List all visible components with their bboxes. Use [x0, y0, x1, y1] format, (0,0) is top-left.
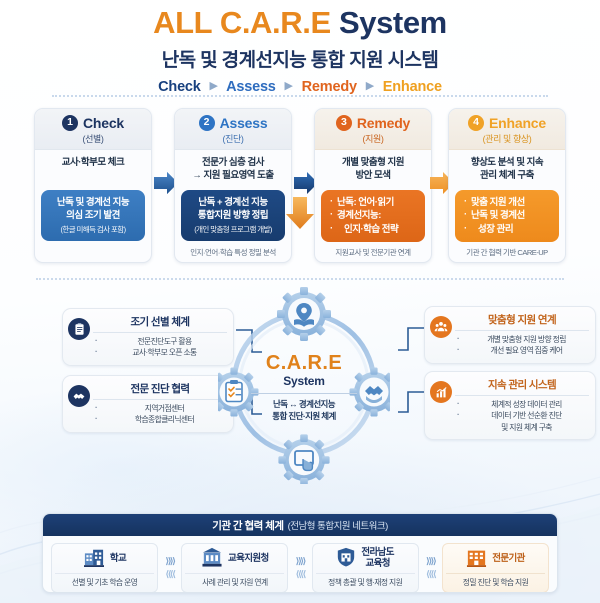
page-title: ALL C.A.R.E System: [0, 6, 600, 41]
step-description-line-2: 관리 체계 구축: [471, 170, 543, 183]
care-system-word: System: [218, 374, 390, 388]
institution-connector: ⟫⟫ ⟪⟪: [158, 543, 181, 593]
step-card-header: 1 Check (선별): [35, 109, 151, 150]
page-subtitle: 난독 및 경계선지능 통합 지원 시스템: [0, 45, 600, 72]
side-box-item: 체계적 성장 데이터 관리: [455, 399, 589, 410]
step-description: 향상도 분석 및 지속 관리 체계 구축: [471, 157, 543, 185]
step-number-badge: 2: [199, 115, 215, 131]
institution-name: 교육지원청: [228, 554, 269, 565]
step-footnote: 인지·언어·학습 특성 정밀 분석: [175, 247, 291, 258]
step-footnote: 기관 간 협력 기반 CARE-UP: [449, 247, 565, 258]
header-divider: [52, 95, 548, 97]
side-box-item: 지역거점센터: [93, 403, 227, 414]
connector-back-icon: ⟪⟪: [426, 569, 435, 580]
government-building-icon: [201, 547, 223, 572]
step-card-header: 4 Enhance (관리 및 향상): [449, 109, 565, 150]
step-sequence: Check ▶ Assess ▶ Remedy ▶ Enhance: [0, 79, 600, 95]
institution-connector: ⟫⟫ ⟪⟪: [288, 543, 311, 593]
connector-forward-icon: ⟫⟫: [296, 556, 305, 567]
step-description-line-1: 전문가 심층 검사: [192, 157, 273, 170]
institution-name: 전문기관: [492, 554, 525, 565]
institution-role: 정책 총괄 및 행·재정 지원: [316, 573, 415, 588]
pill-bullet-1: 난독: 언어·읽기: [330, 196, 422, 209]
institution-provincial-office[interactable]: 전라남도 교육청 정책 총괄 및 행·재정 지원: [312, 543, 419, 593]
step-description: 교사·학부모 체크: [62, 157, 124, 185]
step-label-enhance: Enhance: [383, 79, 442, 95]
pill-bullet-2-cont: 성장 관리: [464, 223, 556, 236]
infographic-page: ALL C.A.R.E System 난독 및 경계선지능 통합 지원 시스템 …: [0, 0, 600, 603]
institution-network-subtitle: (전남형 통합지원 네트워크): [288, 518, 388, 532]
step-number-badge: 3: [336, 115, 352, 131]
institution-expert-agency[interactable]: 전문기관 정밀 진단 및 학습 지원: [442, 543, 549, 593]
pill-bullet-2: 경계선지능:: [330, 209, 422, 222]
checklist-icon: [68, 318, 90, 340]
gear-node-bottom: [278, 434, 329, 484]
step-title-ko: (지원): [363, 132, 384, 145]
step-card-enhance[interactable]: 4 Enhance (관리 및 향상) 향상도 분석 및 지속 관리 체계 구축…: [448, 108, 566, 263]
office-shield-icon: [336, 547, 356, 572]
pill-bullet-2: 난독 및 경계선: [464, 209, 556, 222]
institution-education-support-office[interactable]: 교육지원청 사례 관리 및 자원 연계: [181, 543, 288, 593]
side-box-item: 데이터 기반 선순환 진단: [455, 410, 589, 421]
side-box-item: 교사·학부모 오픈 소통: [93, 347, 227, 358]
connector-forward-icon: ⟫⟫: [426, 556, 435, 567]
step-footnote: 지원교사 및 전문기관 연계: [315, 247, 431, 258]
institution-name: 학교: [110, 554, 126, 565]
care-text-divider: [251, 393, 357, 394]
side-box-list: 체계적 성장 데이터 관리 데이터 기반 선순환 진단 및 지원 체계 구축: [455, 399, 589, 433]
pill-bullet-1: 맞춤 지원 개선: [464, 196, 556, 209]
institution-name: 전라남도 교육청: [361, 548, 394, 570]
pill-bullet-2-cont: 인지·학습 전략: [330, 223, 422, 236]
pill-line-1: 난독 + 경계선 지능: [184, 196, 282, 209]
side-box-title: 전문 진단 협력: [93, 381, 227, 400]
care-center-text: C.A.R.E System 난독 ↔ 경계선지능 통합 진단·지원 체계: [218, 352, 390, 423]
side-box-expert-diagnosis[interactable]: 전문 진단 협력 지역거점센터 학습종합클리닉센터: [62, 375, 234, 433]
connector-back-icon: ⟪⟪: [165, 569, 174, 580]
institution-connector: ⟫⟫ ⟪⟪: [419, 543, 442, 593]
process-steps-row: 1 Check (선별) 교사·학부모 체크 난독 및 경계선 지능 의심 조기…: [34, 108, 566, 266]
care-system-section: 조기 선별 체계 전문진단도구 활용 교사·학부모 오픈 소통 전문 진단 협력…: [0, 278, 600, 493]
step-title-en: Enhance: [489, 115, 546, 131]
side-box-list: 지역거점센터 학습종합클리닉센터: [93, 403, 227, 426]
side-box-item: 전문진단도구 활용: [93, 336, 227, 347]
step-title-ko: (선별): [83, 132, 104, 145]
side-box-list: 개별 맞춤형 지원 방향 정립 개선 필요 영역 집중 케어: [455, 334, 589, 357]
side-box-continuous-management[interactable]: 지속 관리 시스템 체계적 성장 데이터 관리 데이터 기반 선순환 진단 및 …: [424, 371, 596, 440]
step-highlight-pill: 난독 + 경계선 지능 통합지원 방향 정립 (개인 맞춤형 프로그램 개발): [181, 190, 285, 241]
sequence-arrow-icon: ▶: [361, 80, 379, 92]
step-card-header: 3 Remedy (지원): [315, 109, 431, 150]
step-label-assess: Assess: [226, 79, 276, 95]
step-description-line-1: 개별 맞춤형 지원: [342, 157, 404, 170]
step-description: 전문가 심층 검사 → 지원 필요영역 도출: [192, 157, 273, 185]
sequence-arrow-icon: ▶: [205, 80, 223, 92]
step-card-body: 교사·학부모 체크 난독 및 경계선 지능 의심 조기 발견 (한글 미해득 검…: [35, 150, 151, 263]
step-highlight-pill: 난독 및 경계선 지능 의심 조기 발견 (한글 미해득 검사 포함): [41, 190, 145, 241]
step-title-en: Remedy: [357, 115, 410, 131]
pill-note: (한글 미해득 검사 포함): [44, 224, 142, 235]
institution-list: 학교 선별 및 기초 학습 운영 ⟫⟫ ⟪⟪: [43, 536, 557, 593]
institution-name-line-2: 교육청: [361, 559, 394, 570]
pill-line-1: 난독 및 경계선 지능: [44, 196, 142, 209]
institution-role: 정밀 진단 및 학습 지원: [446, 573, 545, 588]
side-box-title: 조기 선별 체계: [93, 314, 227, 333]
step-card-check[interactable]: 1 Check (선별) 교사·학부모 체크 난독 및 경계선 지능 의심 조기…: [34, 108, 152, 263]
institution-network-panel: 기관 간 협력 체계 (전남형 통합지원 네트워크): [42, 513, 558, 593]
step-card-assess[interactable]: 2 Assess (진단) 전문가 심층 검사 → 지원 필요영역 도출 난독 …: [174, 108, 292, 263]
people-group-icon: [430, 316, 452, 338]
institution-network-title: 기관 간 협력 체계: [212, 518, 283, 533]
section-divider: [36, 278, 564, 280]
step-number-badge: 4: [468, 115, 484, 131]
side-box-item: 개선 필요 영역 집중 케어: [455, 345, 589, 356]
step-highlight-pill: 맞춤 지원 개선 난독 및 경계선 성장 관리: [455, 190, 559, 242]
step-number-badge: 1: [62, 115, 78, 131]
step-description-line-2: 방안 모색: [342, 170, 404, 183]
institution-role: 사례 관리 및 자원 연계: [185, 573, 284, 588]
side-box-item: 개별 맞춤형 지원 방향 정립: [455, 334, 589, 345]
down-flow-arrow-icon: [284, 196, 316, 230]
care-abbreviation: C.A.R.E: [218, 352, 390, 375]
title-orange-part: ALL C.A.R.E: [153, 5, 331, 40]
institution-network-header: 기관 간 협력 체계 (전남형 통합지원 네트워크): [43, 514, 557, 536]
step-title-en: Assess: [220, 115, 268, 131]
side-box-item: 학습종합클리닉센터: [93, 414, 227, 425]
side-box-early-screening[interactable]: 조기 선별 체계 전문진단도구 활용 교사·학부모 오픈 소통: [62, 308, 234, 366]
school-building-icon: [83, 547, 105, 572]
step-description: 개별 맞춤형 지원 방안 모색: [342, 157, 404, 185]
side-box-customized-support[interactable]: 맞춤형 지원 연계 개별 맞춤형 지원 방향 정립 개선 필요 영역 집중 케어: [424, 306, 596, 364]
institution-role: 선별 및 기초 학습 운영: [55, 573, 154, 588]
step-card-remedy[interactable]: 3 Remedy (지원) 개별 맞춤형 지원 방안 모색 난독: 언어·읽기 …: [314, 108, 432, 263]
step-title-en: Check: [83, 115, 124, 131]
bar-chart-growth-icon: [430, 381, 452, 403]
side-box-item-cont: 및 지원 체계 구축: [455, 422, 589, 433]
institution-school[interactable]: 학교 선별 및 기초 학습 운영: [51, 543, 158, 593]
step-description-line-1: 향상도 분석 및 지속: [471, 157, 543, 170]
care-system-hub: C.A.R.E System 난독 ↔ 경계선지능 통합 진단·지원 체계: [218, 284, 390, 484]
connector-forward-icon: ⟫⟫: [165, 556, 174, 567]
step-label-remedy: Remedy: [302, 79, 357, 95]
step-highlight-pill: 난독: 언어·읽기 경계선지능: 인지·학습 전략: [321, 190, 425, 242]
clinic-building-icon: [466, 547, 487, 572]
care-caption-line-1: 난독 ↔ 경계선지능: [218, 398, 390, 410]
title-navy-part: System: [339, 5, 447, 40]
pill-note: (개인 맞춤형 프로그램 개발): [184, 224, 282, 235]
pill-line-2: 통합지원 방향 정립: [184, 209, 282, 222]
side-box-title: 지속 관리 시스템: [455, 377, 589, 396]
care-caption-line-2: 통합 진단·지원 체계: [218, 410, 390, 422]
handshake-icon: [68, 385, 90, 407]
connector-back-icon: ⟪⟪: [296, 569, 305, 580]
gear-node-top: [277, 287, 331, 341]
sequence-arrow-icon: ▶: [280, 80, 298, 92]
side-box-list: 전문진단도구 활용 교사·학부모 오픈 소통: [93, 336, 227, 359]
pill-line-2: 의심 조기 발견: [44, 209, 142, 222]
side-box-title: 맞춤형 지원 연계: [455, 312, 589, 331]
page-header: ALL C.A.R.E System 난독 및 경계선지능 통합 지원 시스템 …: [0, 0, 600, 95]
step-title-ko: (진단): [223, 132, 244, 145]
step-label-check: Check: [158, 79, 201, 95]
step-description-line-2: → 지원 필요영역 도출: [192, 170, 273, 183]
step-card-header: 2 Assess (진단): [175, 109, 291, 150]
step-title-ko: (관리 및 향상): [483, 132, 532, 145]
